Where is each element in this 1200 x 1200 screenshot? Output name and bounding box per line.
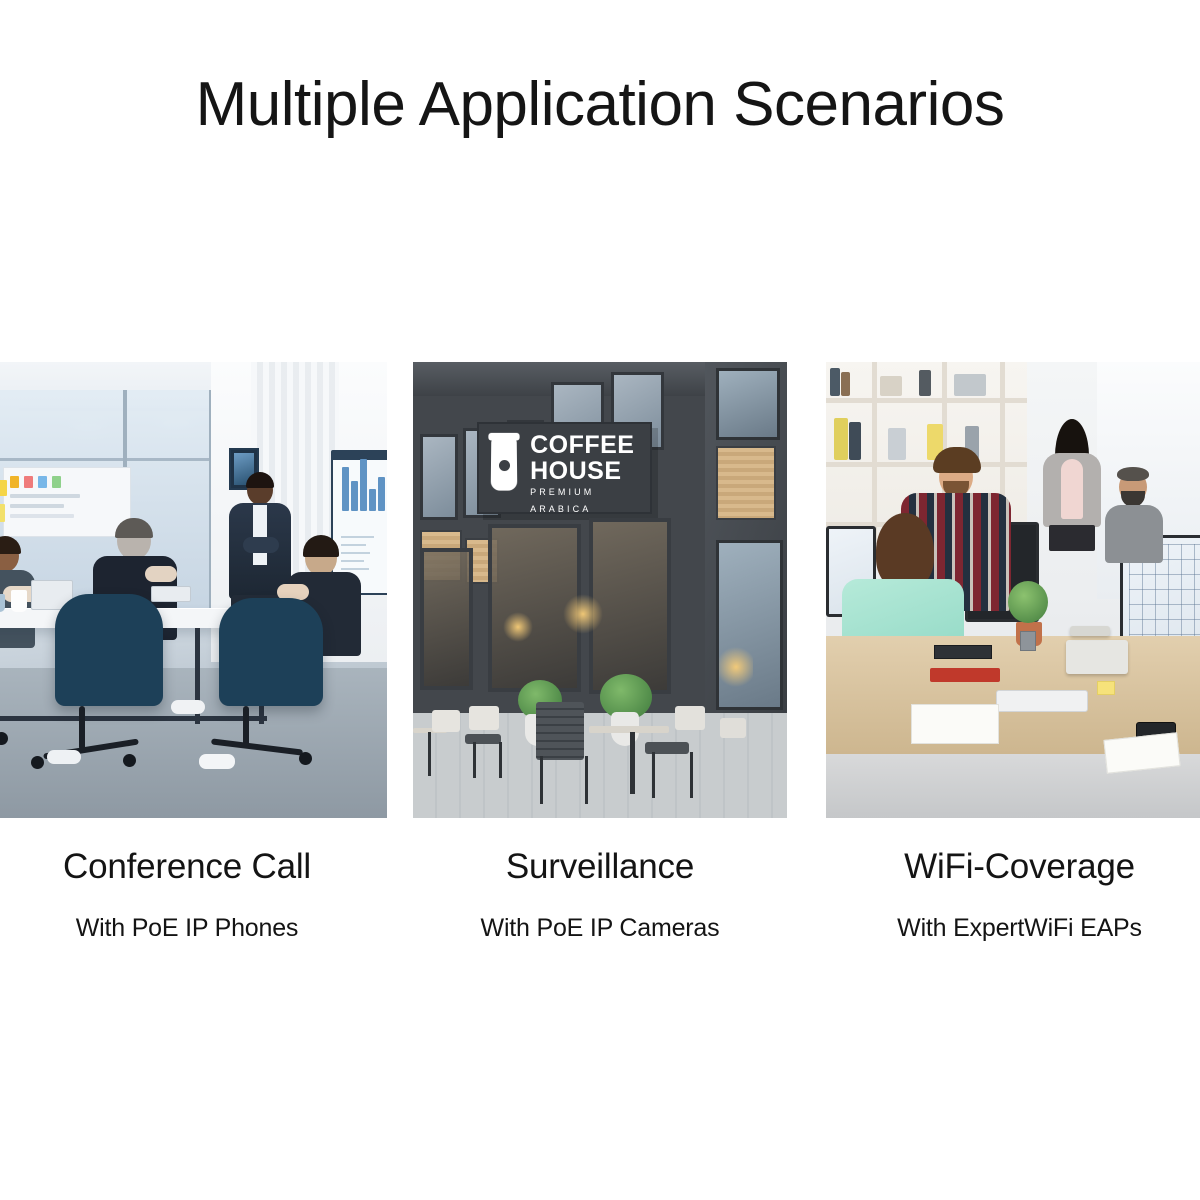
- chair-leg: [585, 756, 588, 804]
- page-title: Multiple Application Scenarios: [0, 74, 1200, 136]
- floor-lamp: [719, 644, 753, 690]
- chart-bar: [360, 459, 367, 511]
- shelf-object: [954, 374, 986, 396]
- desk-plant: [1008, 581, 1048, 623]
- shelf-object: [919, 370, 931, 396]
- sticky-note: [1097, 681, 1115, 695]
- upper-window: [420, 434, 457, 520]
- sticky-note: [0, 504, 5, 522]
- cafe-chair: [432, 710, 460, 732]
- sticky-note: [38, 476, 47, 488]
- shelf-object: [888, 428, 906, 460]
- chart-bar: [369, 489, 376, 511]
- chair-leg: [690, 752, 693, 798]
- whiteboard-line: [10, 504, 64, 508]
- chart-bar: [351, 481, 358, 511]
- chair-caster: [31, 756, 44, 769]
- chart-bar: [342, 467, 349, 511]
- coffee-cup: [11, 590, 27, 612]
- shelf-object: [834, 418, 848, 460]
- office-chair: [55, 594, 163, 706]
- desk-phone: [1066, 640, 1128, 674]
- interior-light: [503, 612, 533, 642]
- trousers: [1049, 525, 1095, 551]
- interior-light: [563, 594, 603, 634]
- conference-call-photo: [0, 362, 387, 818]
- top: [1061, 459, 1083, 519]
- wifi-coverage-photo: [826, 362, 1200, 818]
- paper-sheet: [911, 704, 999, 744]
- coffee-cup-icon: [490, 439, 517, 491]
- pen-cup: [1020, 631, 1036, 651]
- sticky-note: [52, 476, 61, 488]
- hair: [246, 472, 274, 488]
- shelf-object: [841, 372, 850, 396]
- tablet-device: [934, 645, 992, 659]
- chair-leg: [540, 756, 543, 804]
- colleague-standing-person: [1043, 421, 1101, 571]
- sign-line-2: HOUSE: [530, 458, 650, 484]
- table-leg: [428, 732, 431, 776]
- keyboard: [996, 690, 1088, 712]
- sign-text-block: COFFEE HOUSE PREMIUM ARABICA: [530, 432, 650, 518]
- shelf-object: [849, 422, 861, 460]
- coffee-house-sign: COFFEE HOUSE PREMIUM ARABICA: [477, 422, 653, 514]
- sticky-note: [0, 480, 7, 496]
- sign-line-3: PREMIUM ARABICA: [530, 484, 650, 518]
- wood-slat-panel: [716, 446, 776, 520]
- hair: [876, 513, 934, 589]
- hair: [1117, 467, 1149, 481]
- office-chair: [219, 598, 323, 706]
- table-rail: [0, 716, 267, 721]
- clapping-hands: [145, 566, 177, 582]
- chair-post: [79, 706, 85, 750]
- shirt: [1105, 505, 1163, 563]
- cafe-chair-seat: [465, 734, 501, 744]
- scenario-card-conference-call[interactable]: [0, 362, 387, 818]
- display-text-line: [341, 536, 374, 538]
- storefront-window: [420, 548, 472, 690]
- shelf-object: [830, 368, 840, 396]
- chair-leg: [652, 752, 655, 798]
- shoe: [47, 750, 81, 764]
- caption-subtitle: With PoE IP Cameras: [413, 911, 787, 945]
- caption-title: Surveillance: [413, 845, 787, 889]
- chair-caster: [123, 754, 136, 767]
- shoe: [199, 754, 235, 769]
- whiteboard-line: [10, 514, 74, 518]
- hair: [933, 447, 981, 473]
- caption-subtitle: With ExpertWiFi EAPs: [826, 911, 1200, 945]
- colleague-person: [1105, 471, 1163, 581]
- chart-bar: [378, 477, 385, 511]
- caption-surveillance: Surveillance With PoE IP Cameras: [413, 845, 787, 945]
- shoe: [171, 700, 205, 714]
- sticky-note: [24, 476, 33, 488]
- caption-subtitle: With PoE IP Phones: [0, 911, 387, 945]
- cafe-chair: [720, 718, 746, 738]
- corner-window: [716, 368, 780, 440]
- chair-leg: [473, 742, 476, 778]
- caption-title: WiFi-Coverage: [826, 845, 1200, 889]
- cafe-chair: [536, 702, 584, 760]
- coffee-cup: [0, 594, 5, 612]
- cafe-table: [589, 726, 669, 733]
- laptop: [151, 586, 191, 602]
- cafe-chair: [469, 706, 499, 730]
- chair-caster: [299, 752, 312, 765]
- arm: [243, 537, 279, 553]
- shelf-object: [880, 376, 902, 396]
- mullion-horizontal: [0, 458, 211, 461]
- sticky-note: [10, 476, 19, 488]
- phone-handset: [1070, 626, 1110, 636]
- red-folder: [930, 668, 1000, 682]
- caption-row: Conference Call With PoE IP Phones Surve…: [0, 845, 1200, 965]
- caption-wifi-coverage: WiFi-Coverage With ExpertWiFi EAPs: [826, 845, 1200, 945]
- surveillance-photo: COFFEE HOUSE PREMIUM ARABICA: [413, 362, 787, 818]
- scenario-card-wifi-coverage[interactable]: [826, 362, 1200, 818]
- chair-leg: [499, 742, 502, 778]
- caption-title: Conference Call: [0, 845, 387, 889]
- shelf-board: [826, 398, 1027, 403]
- whiteboard-line: [10, 494, 80, 498]
- scenario-card-row: COFFEE HOUSE PREMIUM ARABICA: [0, 362, 1200, 818]
- table-leg: [630, 732, 635, 794]
- shirt: [253, 505, 267, 565]
- sign-line-1: COFFEE: [530, 432, 650, 458]
- cafe-chair: [675, 706, 705, 730]
- scenario-card-surveillance[interactable]: COFFEE HOUSE PREMIUM ARABICA: [413, 362, 787, 818]
- caption-conference-call: Conference Call With PoE IP Phones: [0, 845, 387, 945]
